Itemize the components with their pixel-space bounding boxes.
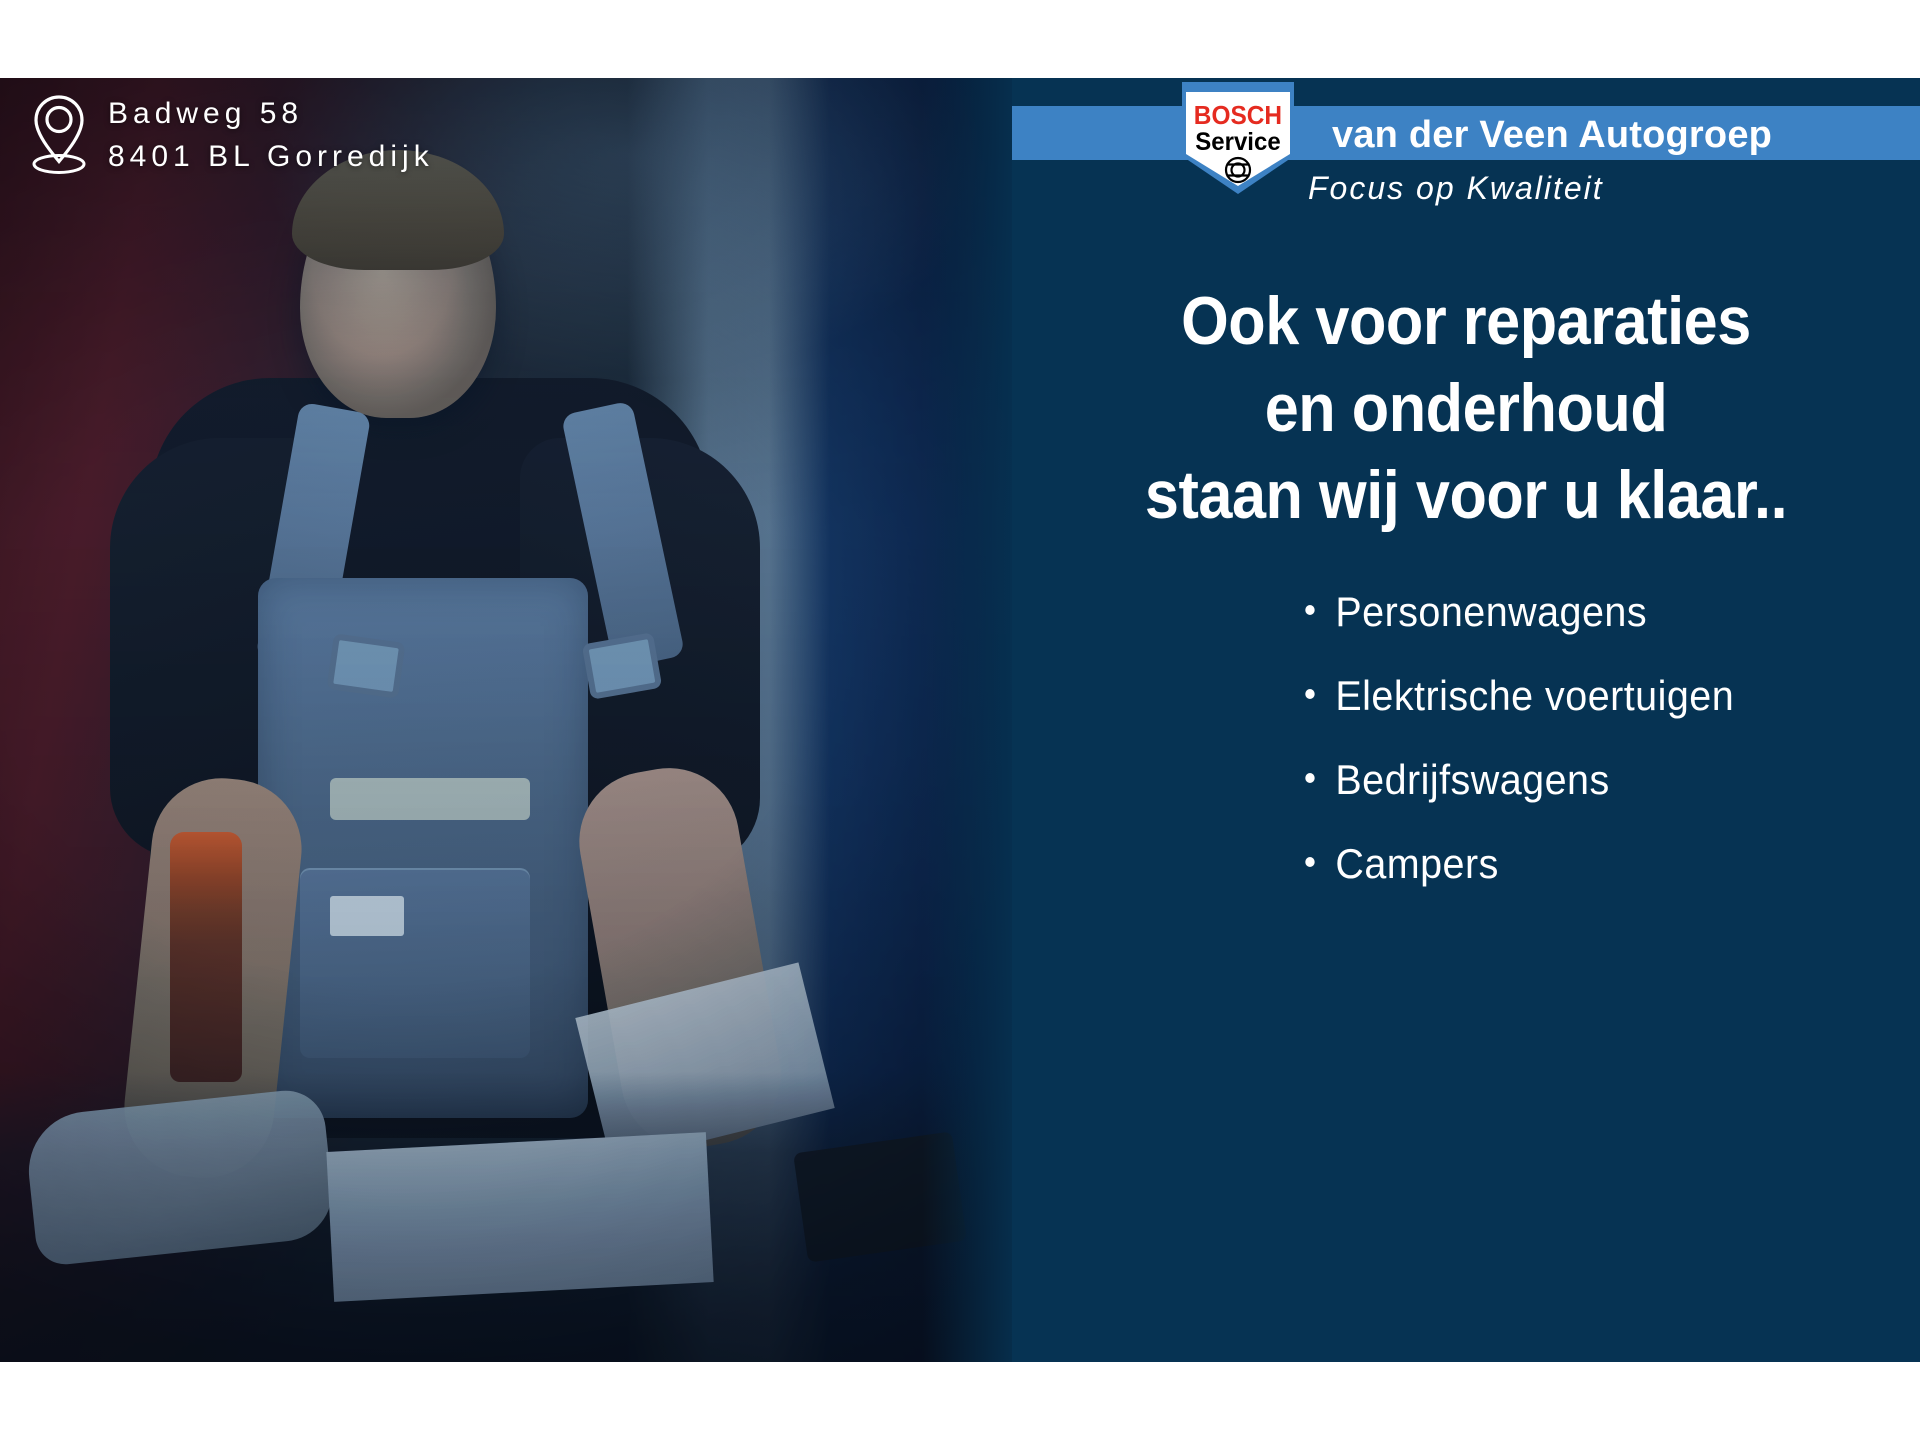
address-overlay: Badweg 58 8401 BL Gorredijk [28, 90, 434, 181]
service-label: Bedrijfswagens [1335, 756, 1609, 804]
bullet-icon [1305, 773, 1314, 783]
headline-line-1: Ook voor reparaties [1057, 278, 1874, 365]
photo-blue-tint [0, 78, 1012, 1362]
brand-name: van der Veen Autogroep [1332, 114, 1772, 157]
service-label: Elektrische voertuigen [1335, 672, 1734, 720]
address-text: Badweg 58 8401 BL Gorredijk [108, 93, 434, 178]
service-list: Personenwagens Elektrische voertuigen Be… [1012, 588, 1920, 924]
map-pin-icon [28, 90, 90, 181]
list-item: Campers [1012, 840, 1866, 888]
svg-text:Service: Service [1195, 129, 1280, 157]
service-label: Personenwagens [1335, 588, 1647, 636]
photo-edge-fade [922, 78, 1012, 1362]
bullet-icon [1305, 605, 1314, 615]
address-city: 8401 BL Gorredijk [108, 136, 434, 179]
service-label: Campers [1335, 840, 1498, 888]
headline-line-2: en onderhoud [1057, 365, 1874, 452]
bullet-icon [1305, 689, 1314, 699]
bullet-icon [1305, 857, 1314, 867]
content-band: Badweg 58 8401 BL Gorredijk BOSCH Servic… [0, 78, 1920, 1362]
bosch-service-logo: BOSCH Service [1182, 82, 1294, 194]
brand-header: BOSCH Service van der Veen Autogroep Foc… [1012, 78, 1920, 228]
advertisement-canvas: Badweg 58 8401 BL Gorredijk BOSCH Servic… [0, 0, 1920, 1440]
address-street: Badweg 58 [108, 93, 434, 136]
headline: Ook voor reparaties en onderhoud staan w… [1057, 278, 1874, 539]
headline-line-3: staan wij voor u klaar.. [1057, 452, 1874, 539]
list-item: Bedrijfswagens [1012, 756, 1866, 804]
workshop-photo: Badweg 58 8401 BL Gorredijk [0, 78, 1012, 1362]
list-item: Elektrische voertuigen [1012, 672, 1866, 720]
info-panel: BOSCH Service van der Veen Autogroep Foc… [1012, 78, 1920, 1362]
brand-tagline: Focus op Kwaliteit [1308, 170, 1604, 207]
list-item: Personenwagens [1012, 588, 1866, 636]
svg-text:BOSCH: BOSCH [1194, 101, 1282, 130]
